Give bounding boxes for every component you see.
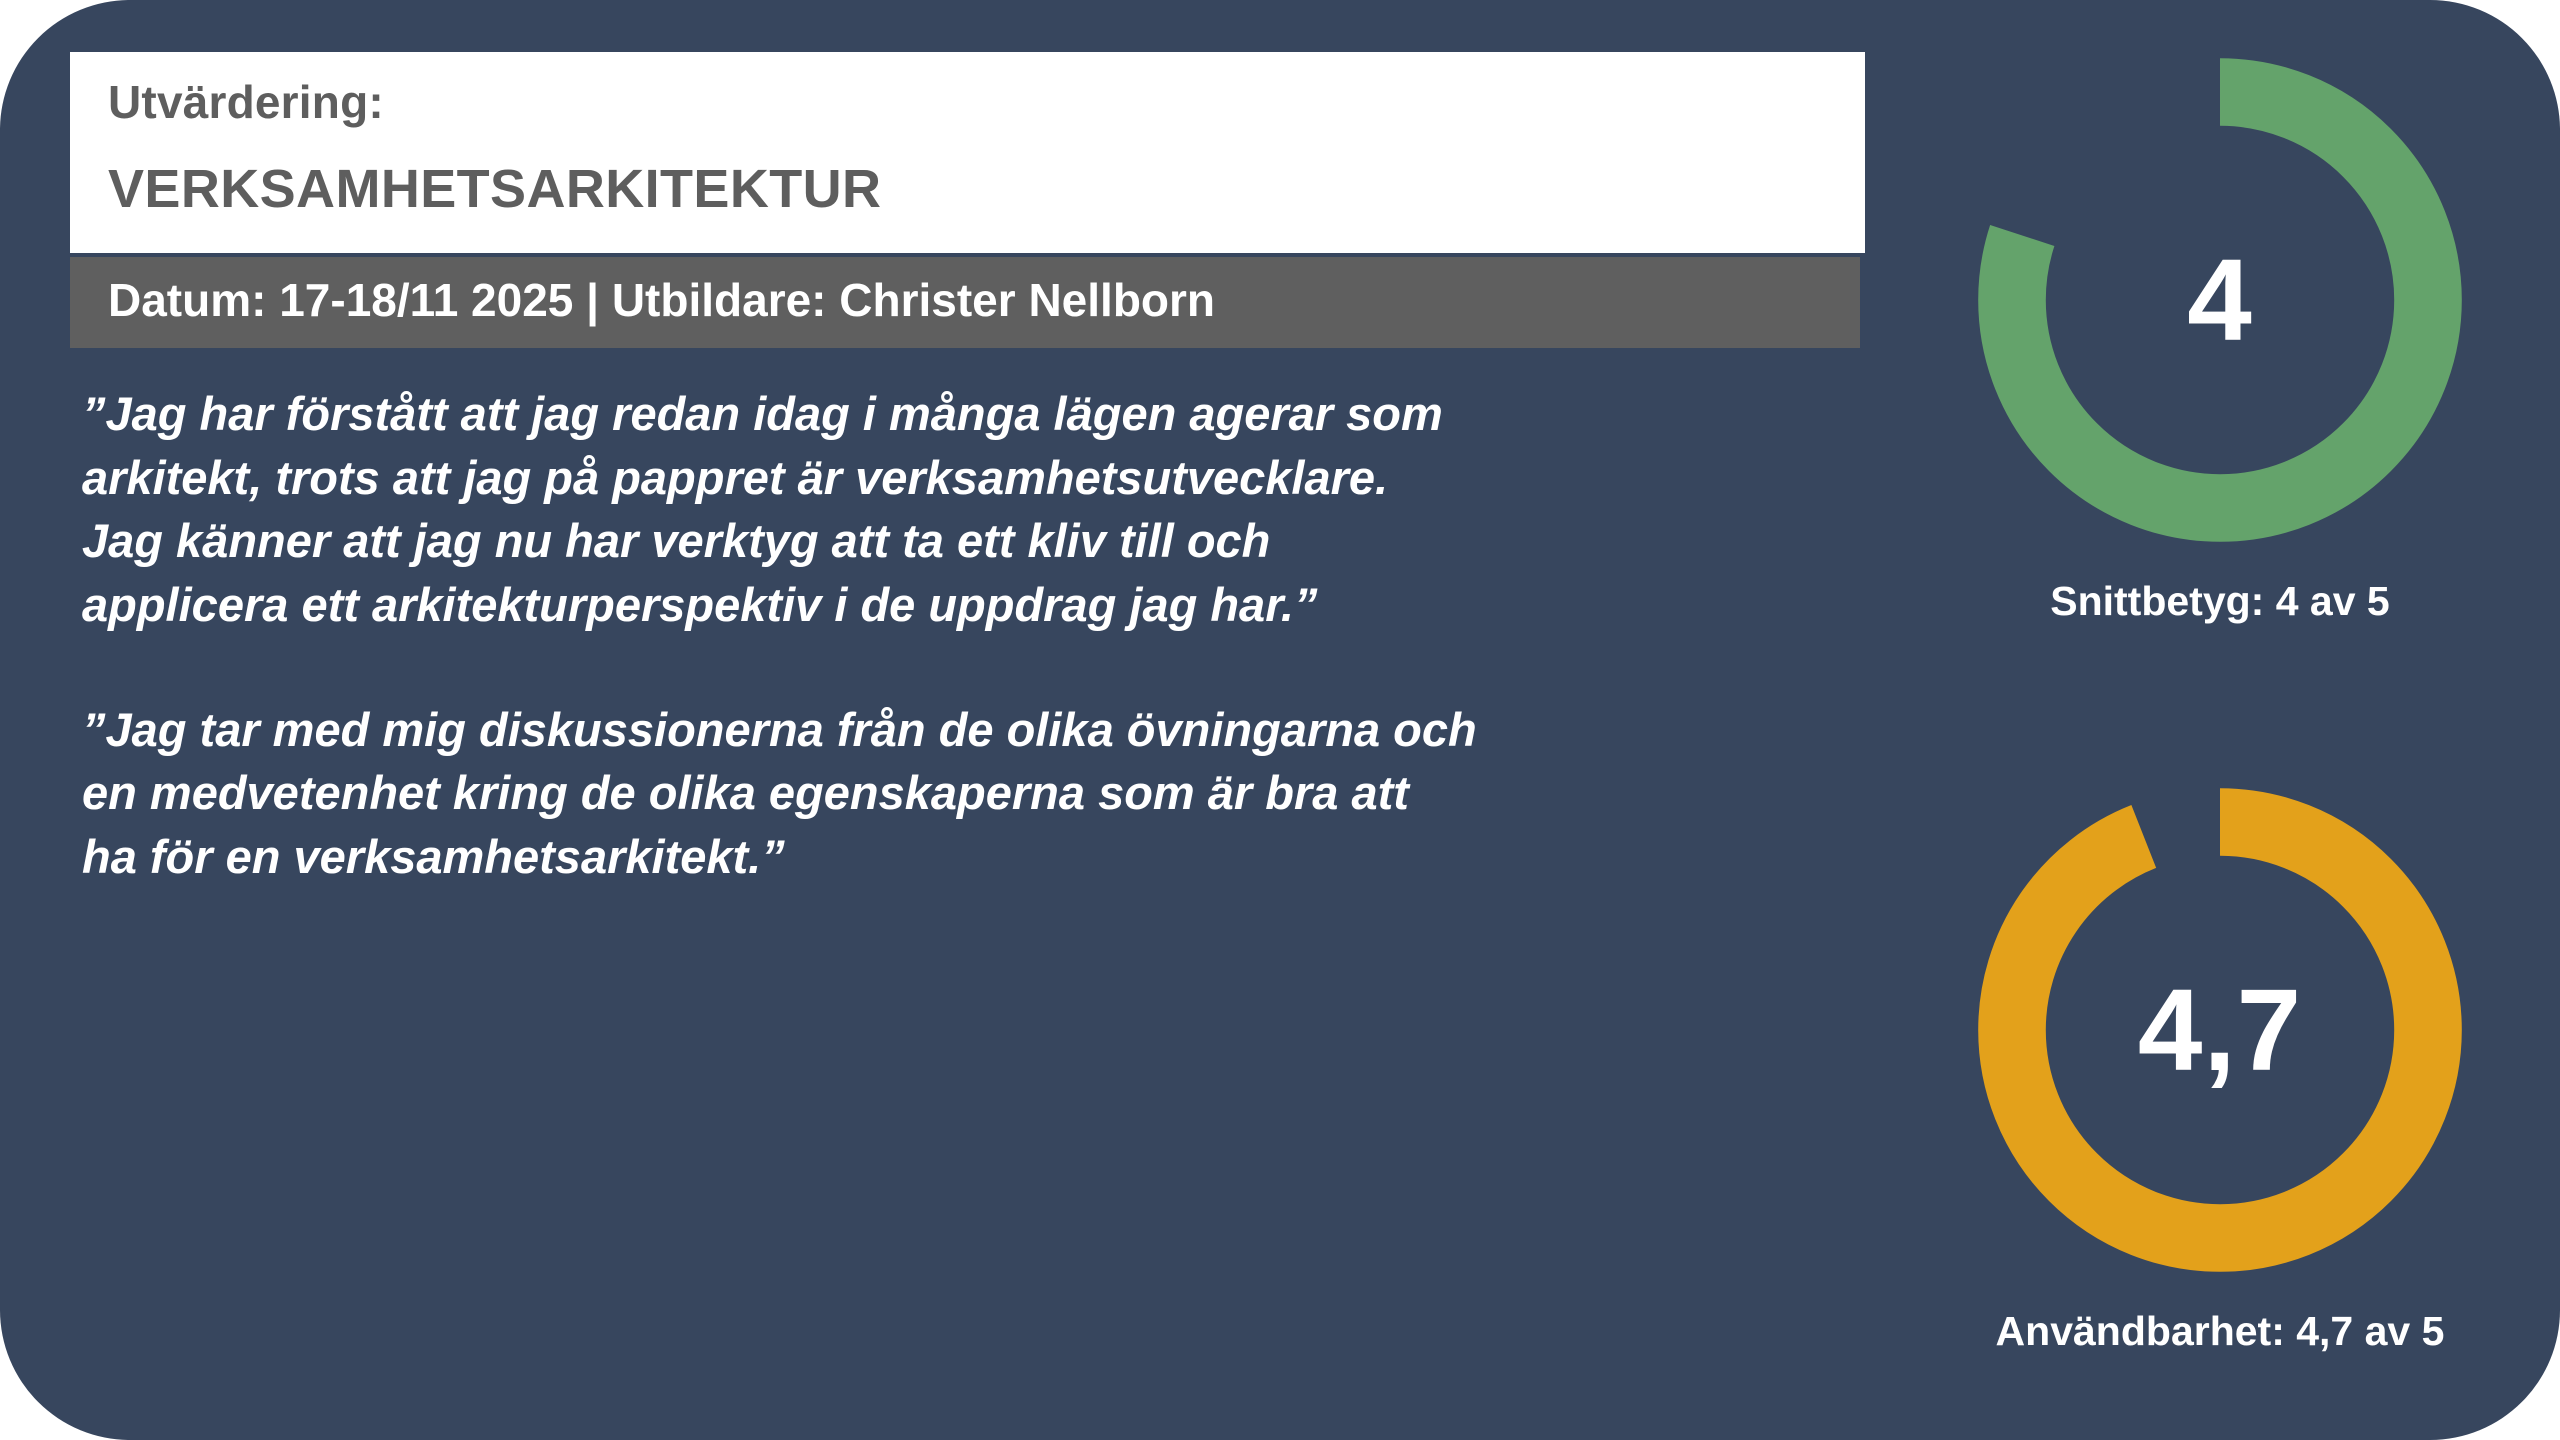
donut-chart-anvandbarhet: 4,7 xyxy=(1960,770,2480,1290)
evaluation-card: Utvärdering: VERKSAMHETSARKITEKTUR Datum… xyxy=(0,0,2560,1440)
date-trainer-text: Datum: 17-18/11 2025 | Utbildare: Christ… xyxy=(108,273,1822,328)
slide-page: Utvärdering: VERKSAMHETSARKITEKTUR Datum… xyxy=(0,0,2560,1440)
title-panel: Utvärdering: VERKSAMHETSARKITEKTUR xyxy=(70,52,1865,253)
content-column: Utvärdering: VERKSAMHETSARKITEKTUR Datum… xyxy=(70,52,1870,888)
gauge-value-snittbetyg: 4 xyxy=(1960,40,2480,560)
page-title: VERKSAMHETSARKITEKTUR xyxy=(108,156,1827,224)
date-trainer-bar: Datum: 17-18/11 2025 | Utbildare: Christ… xyxy=(70,257,1860,348)
quote-item: ”Jag tar med mig diskussionerna från de … xyxy=(82,698,1870,888)
quotes-list: ”Jag har förstått att jag redan idag i m… xyxy=(70,382,1870,888)
eyebrow-label: Utvärdering: xyxy=(108,74,1827,132)
gauges-column: 4 Snittbetyg: 4 av 5 4,7 Användbarhet: 4… xyxy=(1880,0,2560,1440)
gauge-snittbetyg: 4 Snittbetyg: 4 av 5 xyxy=(1880,40,2560,625)
gauge-caption-snittbetyg: Snittbetyg: 4 av 5 xyxy=(1880,578,2560,625)
gauge-value-anvandbarhet: 4,7 xyxy=(1960,770,2480,1290)
gauge-caption-anvandbarhet: Användbarhet: 4,7 av 5 xyxy=(1880,1308,2560,1355)
gauge-anvandbarhet: 4,7 Användbarhet: 4,7 av 5 xyxy=(1880,770,2560,1355)
quote-item: ”Jag har förstått att jag redan idag i m… xyxy=(82,382,1870,636)
donut-chart-snittbetyg: 4 xyxy=(1960,40,2480,560)
